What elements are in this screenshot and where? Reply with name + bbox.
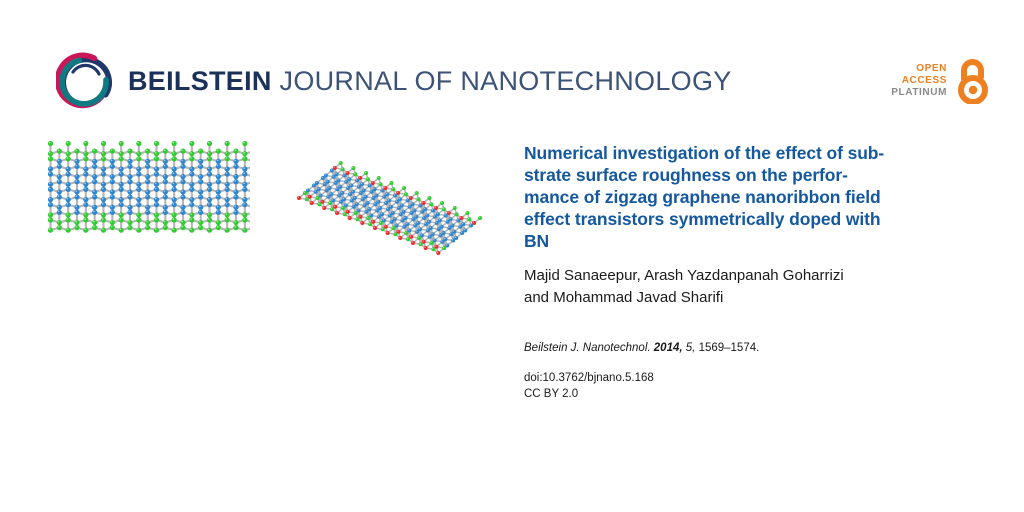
journal-masthead: BEILSTEIN JOURNAL OF NANOTECHNOLOGY OPEN…: [0, 0, 1024, 130]
citation-pages: 1569–1574.: [699, 342, 760, 354]
journal-wordmark: BEILSTEIN JOURNAL OF NANOTECHNOLOGY: [128, 68, 732, 95]
open-access-badge: OPEN ACCESS PLATINUM: [891, 58, 992, 104]
citation-journal: Beilstein J. Nanotechnol.: [524, 342, 651, 354]
citation-year: 2014,: [654, 342, 683, 354]
article-metadata-block: Numerical investigation of the effect of…: [524, 142, 972, 403]
article-doi[interactable]: doi:10.3762/bjnano.5.168: [524, 370, 972, 387]
open-access-line-access: ACCESS: [891, 75, 947, 87]
wordmark-beilstein: BEILSTEIN: [128, 66, 272, 96]
wordmark-journal-of-nanotechnology: JOURNAL OF NANOTECHNOLOGY: [272, 66, 732, 96]
citation-volume: 5,: [686, 342, 696, 354]
beilstein-ring-logo-icon: [56, 52, 114, 110]
open-access-line-open: OPEN: [891, 63, 947, 75]
article-citation: Beilstein J. Nanotechnol. 2014, 5, 1569–…: [524, 341, 972, 356]
open-lock-icon: [954, 58, 992, 104]
open-access-line-platinum: PLATINUM: [891, 87, 947, 99]
figure-zigzag-graphene-nanoribbon-lattice: [48, 140, 250, 284]
article-title: Numerical investigation of the effect of…: [524, 142, 972, 252]
article-authors: Majid Sanaeepur, Arash Yazdanpanah Gohar…: [524, 265, 972, 309]
article-license: CC BY 2.0: [524, 386, 972, 403]
figure-zigzag-graphene-nanoribbon-3d-view: [296, 160, 496, 256]
open-access-label: OPEN ACCESS PLATINUM: [891, 63, 947, 98]
